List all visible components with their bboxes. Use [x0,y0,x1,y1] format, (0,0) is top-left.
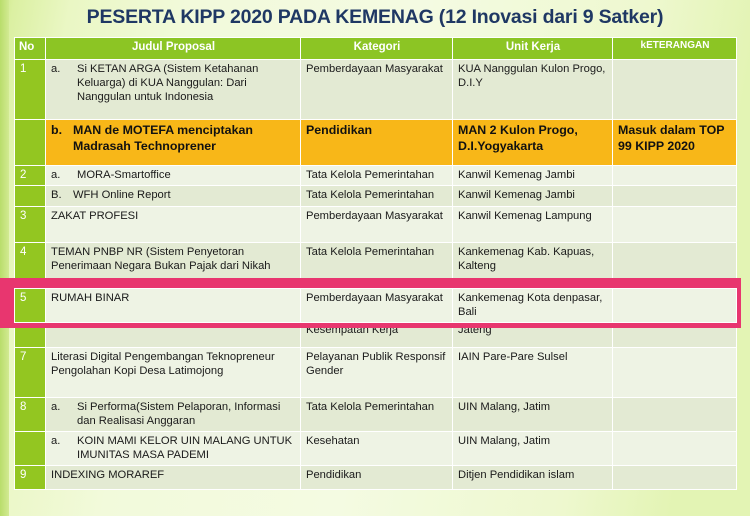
cell-judul-proposal: ZAKAT PROFESI [46,206,301,242]
cell-unit-kerja: Kanwil Kemenag Lampung [453,206,613,242]
cell-judul-proposal: a.MORA-Smartoffice [46,166,301,186]
judul-text: KOIN MAMI KELOR UIN MALANG UNTUK IMUNITA… [77,434,296,462]
cell-judul-proposal: TEMAN PNBP NR (Sistem Penyetoran Penerim… [46,242,301,280]
judul-text: WFH Online Report [73,188,296,202]
cell-unit-kerja: Kankemenag Kab. Kapuas, Kalteng [453,242,613,280]
cell-row-number: 9 [15,466,46,490]
slide-canvas: PESERTA KIPP 2020 PADA KEMENAG (12 Inova… [0,0,750,523]
cell-kategori: Tata Kelola Pemerintahan [301,242,453,280]
cell-kategori: Pemberdayaan Masyarakat [301,289,453,323]
cell-judul-proposal: RUMAH BINAR [46,289,301,323]
cell-kategori: Tata Kelola Pemerintahan [301,166,453,186]
column-header-unit-kerja: Unit Kerja [453,38,613,60]
cell-row-number: 5 [15,289,46,323]
cell-kategori: Tata Kelola Pemerintahan [301,186,453,206]
judul-text: Si KETAN ARGA (Sistem Ketahanan Keluarga… [77,62,296,104]
table-row[interactable]: 8a.Si Performa(Sistem Pelaporan, Informa… [15,397,737,431]
column-header-kategori: Kategori [301,38,453,60]
cell-judul-proposal: a.KOIN MAMI KELOR UIN MALANG UNTUK IMUNI… [46,431,301,465]
cell-row-number: 3 [15,206,46,242]
cell-keterangan [613,431,737,465]
cell-judul-proposal: b.MAN de MOTEFA menciptakan Madrasah Tec… [46,120,301,166]
judul-text: MAN de MOTEFA menciptakan Madrasah Techn… [73,122,296,154]
page-title: PESERTA KIPP 2020 PADA KEMENAG (12 Inova… [0,6,750,29]
cell-keterangan [613,466,737,490]
cell-keterangan [613,186,737,206]
table-row[interactable]: a.KOIN MAMI KELOR UIN MALANG UNTUK IMUNI… [15,431,737,465]
cell-unit-kerja: UIN Malang, Jatim [453,397,613,431]
cell-unit-kerja: Ditjen Pendidikan islam [453,466,613,490]
list-marker: a. [51,168,77,182]
cell-judul-proposal: a.Si KETAN ARGA (Sistem Ketahanan Keluar… [46,60,301,120]
cell-judul-proposal: a.Si Performa(Sistem Pelaporan, Informas… [46,397,301,431]
cell-judul-proposal: B.WFH Online Report [46,186,301,206]
cell-unit-kerja: Kanwil Kemenag Jambi [453,186,613,206]
cell-kategori: Pemberdayaan Masyarakat [301,206,453,242]
cell-kategori: Pendidikan [301,466,453,490]
cell-unit-kerja: KUA Nanggulan Kulon Progo, D.I.Y [453,60,613,120]
judul-text: Si Performa(Sistem Pelaporan, Informasi … [77,400,296,428]
table-row[interactable]: 1a.Si KETAN ARGA (Sistem Ketahanan Kelua… [15,60,737,120]
table-row[interactable]: 2a.MORA-SmartofficeTata Kelola Pemerinta… [15,166,737,186]
cell-unit-kerja: IAIN Pare-Pare Sulsel [453,347,613,397]
cell-keterangan [613,347,737,397]
cell-keterangan [613,397,737,431]
list-marker: a. [51,434,77,462]
cell-keterangan [613,289,737,323]
column-header-no: No [15,38,46,60]
cell-row-number [15,186,46,206]
cell-keterangan [613,206,737,242]
column-header-judul: Judul Proposal [46,38,301,60]
table-body: 1a.Si KETAN ARGA (Sistem Ketahanan Kelua… [15,60,737,490]
cell-kategori: Pelayanan Publik Responsif Gender [301,347,453,397]
table-row[interactable]: 7Literasi Digital Pengembangan Teknopren… [15,347,737,397]
judul-text: MORA-Smartoffice [77,168,296,182]
cell-keterangan [613,166,737,186]
cell-row-number: 8 [15,397,46,431]
cell-unit-kerja: Kanwil Kemenag Jambi [453,166,613,186]
cell-keterangan [613,60,737,120]
cell-kategori: Pemberdayaan Masyarakat [301,60,453,120]
table-row[interactable]: B.WFH Online ReportTata Kelola Pemerinta… [15,186,737,206]
list-marker: B. [51,188,73,202]
table-row[interactable]: b.MAN de MOTEFA menciptakan Madrasah Tec… [15,120,737,166]
cell-unit-kerja: MAN 2 Kulon Progo, D.I.Yogyakarta [453,120,613,166]
cell-row-number [15,120,46,166]
list-marker: b. [51,122,73,154]
cell-judul-proposal: INDEXING MORAREF [46,466,301,490]
cell-keterangan: Masuk dalam TOP 99 KIPP 2020 [613,120,737,166]
participants-table-container: No Judul Proposal Kategori Unit Kerja kE… [14,37,736,490]
list-marker: a. [51,62,77,104]
cell-row-number: 7 [15,347,46,397]
cell-kategori: Pendidikan [301,120,453,166]
column-header-keterangan: kETERANGAN [613,38,737,60]
table-row[interactable]: 9INDEXING MORAREFPendidikanDitjen Pendid… [15,466,737,490]
cell-row-number: 2 [15,166,46,186]
table-header-row: No Judul Proposal Kategori Unit Kerja kE… [15,38,737,60]
cell-unit-kerja: Kankemenag Kota denpasar, Bali [453,289,613,323]
cell-keterangan [613,242,737,280]
cell-kategori: Tata Kelola Pemerintahan [301,397,453,431]
cell-kategori: Kesehatan [301,431,453,465]
cell-row-number: 4 [15,242,46,280]
cell-row-number: 1 [15,60,46,120]
highlighted-row-overlay: 5RUMAH BINARPemberdayaan MasyarakatKanke… [14,288,736,323]
table-row[interactable]: 5RUMAH BINARPemberdayaan MasyarakatKanke… [15,289,737,323]
table-row[interactable]: 3ZAKAT PROFESIPemberdayaan MasyarakatKan… [15,206,737,242]
cell-row-number [15,431,46,465]
cell-unit-kerja: UIN Malang, Jatim [453,431,613,465]
participants-table: No Judul Proposal Kategori Unit Kerja kE… [14,37,737,490]
cell-judul-proposal: Literasi Digital Pengembangan Teknoprene… [46,347,301,397]
list-marker: a. [51,400,77,428]
table-row[interactable]: 4TEMAN PNBP NR (Sistem Penyetoran Peneri… [15,242,737,280]
highlighted-row-table: 5RUMAH BINARPemberdayaan MasyarakatKanke… [14,288,737,323]
table-header: No Judul Proposal Kategori Unit Kerja kE… [15,38,737,60]
